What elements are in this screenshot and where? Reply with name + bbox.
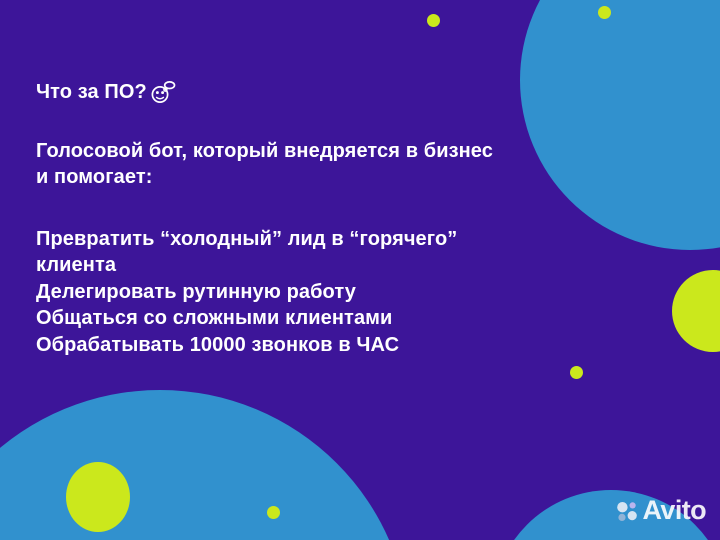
intro-line-1: Голосовой бот, который внедряется в бизн… [36, 138, 636, 164]
list-item: Общаться со сложными клиентами [36, 305, 636, 331]
yellow-circle-bottom-left [66, 462, 130, 532]
list-item: Делегировать рутинную работу [36, 279, 636, 305]
page-title: Что за ПО? [36, 81, 147, 104]
list-item: клиента [36, 252, 636, 278]
list-item: Обрабатывать 10000 звонков в ЧАС [36, 332, 636, 358]
yellow-dot-mid-right [570, 366, 583, 379]
slide-content: Что за ПО? Голосовой бот, который внедря… [36, 80, 636, 358]
avito-dots-icon [616, 500, 638, 522]
promo-slide: Что за ПО? Голосовой бот, который внедря… [0, 0, 720, 540]
yellow-dot-bottom [267, 506, 280, 519]
intro-line-2: и помогает: [36, 164, 636, 190]
benefits-list: Превратить “холодный” лид в “горячего” к… [36, 226, 636, 358]
yellow-circle-right [672, 270, 720, 352]
list-item: Превратить “холодный” лид в “горячего” [36, 226, 636, 252]
heading-row: Что за ПО? [36, 80, 636, 104]
blue-circle-bottom-left [0, 390, 410, 540]
avito-wordmark: Avito [643, 497, 707, 524]
yellow-dot-top-mid [427, 14, 440, 27]
avito-watermark: Avito [616, 497, 707, 524]
intro-block: Голосовой бот, который внедряется в бизн… [36, 138, 636, 190]
yellow-dot-top-right [598, 6, 611, 19]
thinking-face-icon [150, 80, 176, 104]
